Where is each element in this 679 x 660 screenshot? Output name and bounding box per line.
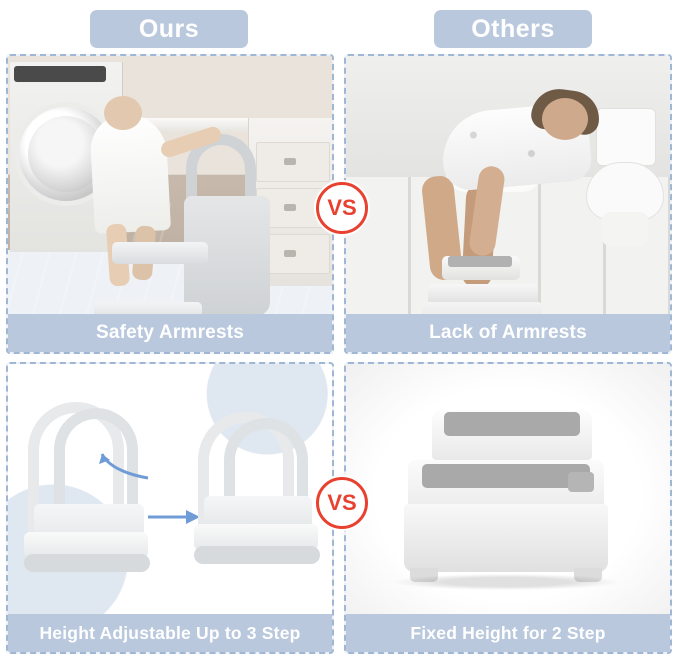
vs-badge-bottom: VS <box>316 477 368 529</box>
child-head <box>104 96 142 130</box>
photo-safety-armrests <box>8 56 332 314</box>
badge-others: Others <box>434 10 592 48</box>
photo-height-adjustable <box>8 364 332 614</box>
caption-top-left: Safety Armrests <box>8 314 332 352</box>
washer-control-panel <box>14 66 106 82</box>
drawer-knob-lower <box>284 250 296 257</box>
stool-step-lower-pad <box>422 464 590 488</box>
vs-badge-top: VS <box>316 182 368 234</box>
stool-step-upper-pad <box>448 256 512 267</box>
photo-lack-of-armrests <box>346 56 670 314</box>
stool-shadow <box>394 574 618 590</box>
stool-step-upper <box>112 242 208 264</box>
stool-step-lower <box>94 302 202 314</box>
stool-side-handle <box>568 472 594 492</box>
adjust-arrow-curved-icon <box>96 446 152 482</box>
stool-a-base <box>24 554 150 572</box>
header-row: Ours Others <box>0 6 679 52</box>
caption-bottom-right: Fixed Height for 2 Step <box>346 614 670 652</box>
panel-top-right: Lack of Armrests <box>344 54 672 354</box>
child-dress <box>89 112 171 234</box>
drawer-knob-upper <box>284 158 296 165</box>
photo-fixed-height <box>346 364 670 614</box>
panel-bottom-left: Height Adjustable Up to 3 Step <box>6 362 334 654</box>
caption-top-right: Lack of Armrests <box>346 314 670 352</box>
stool-b-base <box>194 546 320 564</box>
panel-top-left: Safety Armrests <box>6 54 334 354</box>
stool-step-upper-pad <box>444 412 580 436</box>
caption-bottom-left: Height Adjustable Up to 3 Step <box>8 614 332 652</box>
comparison-infographic: Ours Others <box>0 0 679 660</box>
drawer-knob-middle <box>284 204 296 211</box>
toilet-base <box>602 212 648 246</box>
badge-ours: Ours <box>90 10 248 48</box>
adjust-arrow-right-icon <box>148 510 200 524</box>
stool-body <box>422 302 542 314</box>
toilet-tank <box>596 108 656 166</box>
panel-bottom-right: Fixed Height for 2 Step <box>344 362 672 654</box>
child-head <box>542 98 588 140</box>
stool-body <box>404 504 608 572</box>
